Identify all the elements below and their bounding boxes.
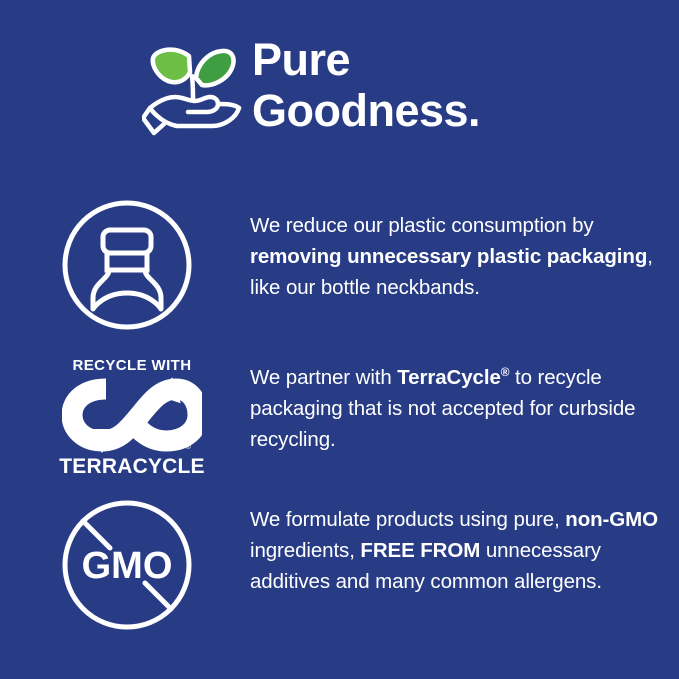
feature-row-plastic-reduction: We reduce our plastic consumption by rem… xyxy=(0,190,679,340)
text-segment-bold: FREE FROM xyxy=(360,539,480,562)
text-segment: We formulate products using pure, xyxy=(250,508,565,531)
text-segment: ingredients, xyxy=(250,539,360,562)
feature-row-non-gmo: GMO We formulate products using pure, no… xyxy=(0,490,679,650)
feature-text-plastic-reduction: We reduce our plastic consumption by rem… xyxy=(250,210,662,303)
hand-holding-sprout-icon xyxy=(142,34,250,142)
feature-text-terracycle: We partner with TerraCycle® to recycle p… xyxy=(250,362,662,455)
no-gmo-icon: GMO xyxy=(57,490,197,640)
infinity-recycle-arrows-icon xyxy=(62,377,202,453)
bottle-neckband-icon xyxy=(57,190,197,340)
pure-goodness-panel: Pure Goodness. We reduce our plastic con… xyxy=(0,0,679,679)
terracycle-wordmark: TERRACYCLE xyxy=(57,455,207,479)
text-segment: We reduce our plastic consumption by xyxy=(250,214,594,237)
registered-trademark-mark: ® xyxy=(185,443,191,451)
terracycle-logo: RECYCLE WITH ® TERRACYCLE xyxy=(57,340,197,490)
page-title-line-1: Pure xyxy=(252,34,652,85)
terracycle-top-label: RECYCLE WITH xyxy=(57,357,207,374)
page-title-line-2: Goodness. xyxy=(252,85,652,136)
header: Pure Goodness. xyxy=(0,0,679,170)
gmo-label: GMO xyxy=(82,545,173,587)
text-segment: We partner with xyxy=(250,366,397,389)
terracycle-brand-name: TerraCycle xyxy=(397,366,500,389)
page-title: Pure Goodness. xyxy=(252,34,652,136)
text-segment-bold: non-GMO xyxy=(565,508,658,531)
feature-row-terracycle: RECYCLE WITH ® TERRACYCLE We partner wit… xyxy=(0,340,679,490)
text-segment-bold: TerraCycle® xyxy=(397,366,509,389)
text-segment-bold: removing unnecessary plastic packaging xyxy=(250,245,647,268)
feature-text-non-gmo: We formulate products using pure, non-GM… xyxy=(250,504,662,597)
